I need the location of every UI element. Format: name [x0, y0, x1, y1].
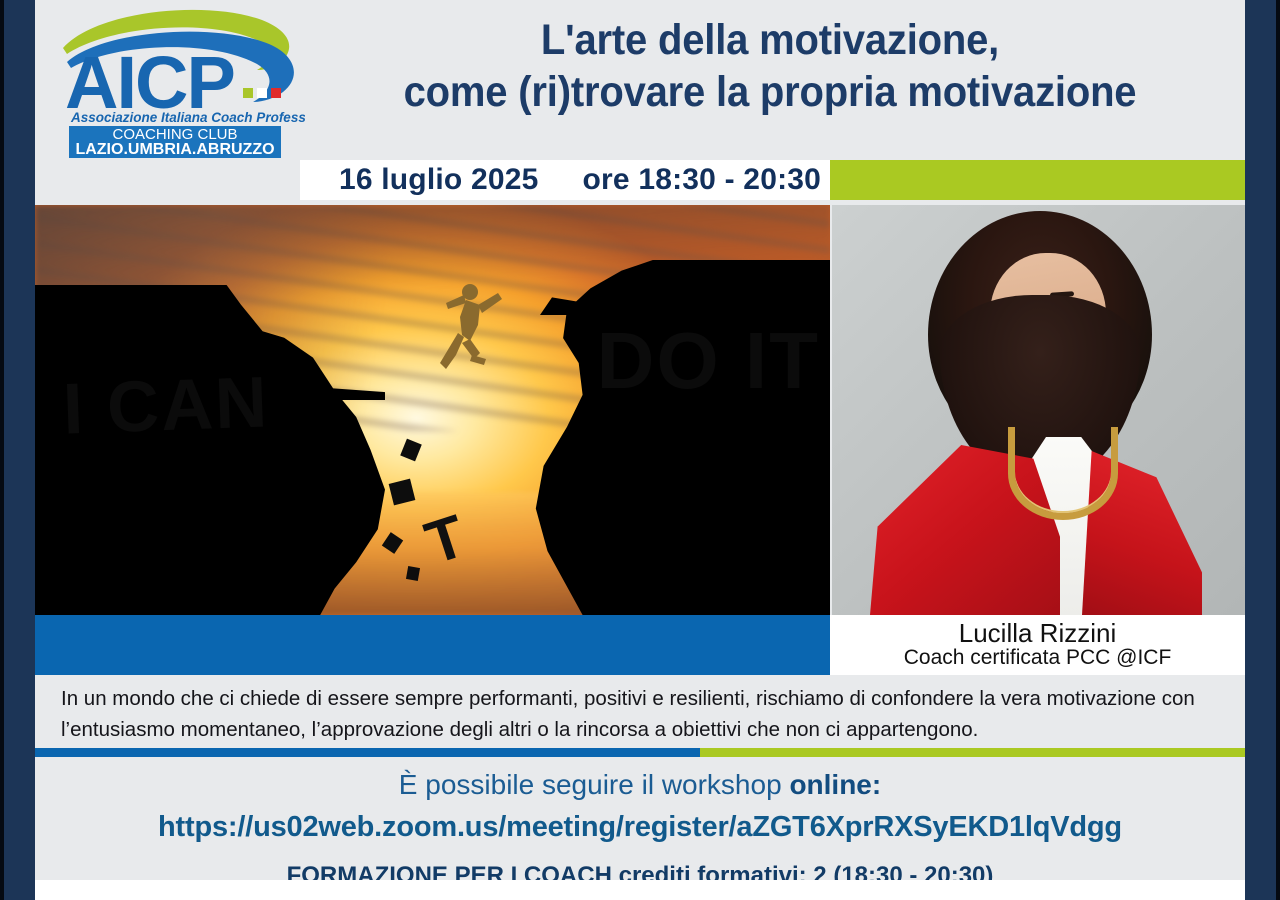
- aicp-logo: AICP Associazione Italiana Coach Profess…: [57, 4, 305, 158]
- hero-text-do-it: DO IT: [597, 315, 820, 407]
- poster-root: AICP Associazione Italiana Coach Profess…: [0, 0, 1280, 900]
- page-title: L'arte della motivazione, come (ri)trova…: [338, 14, 1203, 119]
- event-schedule-bar: 16 luglio 2025 ore 18:30 - 20:30: [300, 160, 860, 200]
- online-note-strong: online:: [789, 769, 881, 800]
- title-line-2: come (ri)trovare la propria motivazione: [338, 66, 1203, 118]
- accent-bar-blue: [35, 615, 830, 675]
- jumping-person-icon: [430, 283, 504, 371]
- event-date: 16 luglio 2025: [339, 163, 539, 197]
- aicp-club-line2-text: LAZIO.UMBRIA.ABRUZZO: [75, 141, 274, 158]
- speaker-role: Coach certificata PCC @ICF: [904, 646, 1172, 670]
- frame-edge-left: [0, 0, 4, 900]
- bottom-white-strip: [35, 880, 1245, 900]
- event-time: ore 18:30 - 20:30: [583, 163, 822, 197]
- online-note: È possibile seguire il workshop online:: [35, 769, 1245, 801]
- divider-segment-green: [700, 748, 1245, 757]
- title-line-1: L'arte della motivazione,: [338, 14, 1203, 66]
- poster-header: AICP Associazione Italiana Coach Profess…: [35, 0, 1245, 160]
- aicp-tagline-text: Associazione Italiana Coach Professionis…: [70, 110, 305, 125]
- speaker-name: Lucilla Rizzini: [959, 620, 1117, 647]
- speaker-portrait: [832, 205, 1245, 615]
- divider-bar: [35, 748, 1245, 757]
- poster-card: AICP Associazione Italiana Coach Profess…: [35, 0, 1245, 880]
- hero-text-i-can: I CAN: [62, 361, 271, 450]
- divider-segment-blue: [35, 748, 700, 757]
- accent-bar-green-top: [830, 160, 1245, 200]
- registration-link[interactable]: https://us02web.zoom.us/meeting/register…: [35, 811, 1245, 844]
- speaker-caption: Lucilla Rizzini Coach certificata PCC @I…: [830, 615, 1245, 675]
- event-description: In un mondo che ci chiede di essere semp…: [35, 680, 1245, 742]
- online-note-prefix: È possibile seguire il workshop: [399, 769, 790, 800]
- frame-edge-right: [1276, 0, 1280, 900]
- poster-footer: È possibile seguire il workshop online: …: [35, 757, 1245, 880]
- rubble-piece: [406, 566, 420, 581]
- aicp-logo-icon: AICP Associazione Italiana Coach Profess…: [57, 4, 305, 158]
- hero-image: I CAN DO IT T: [35, 205, 830, 615]
- portrait-gold-necklace: [1008, 427, 1118, 520]
